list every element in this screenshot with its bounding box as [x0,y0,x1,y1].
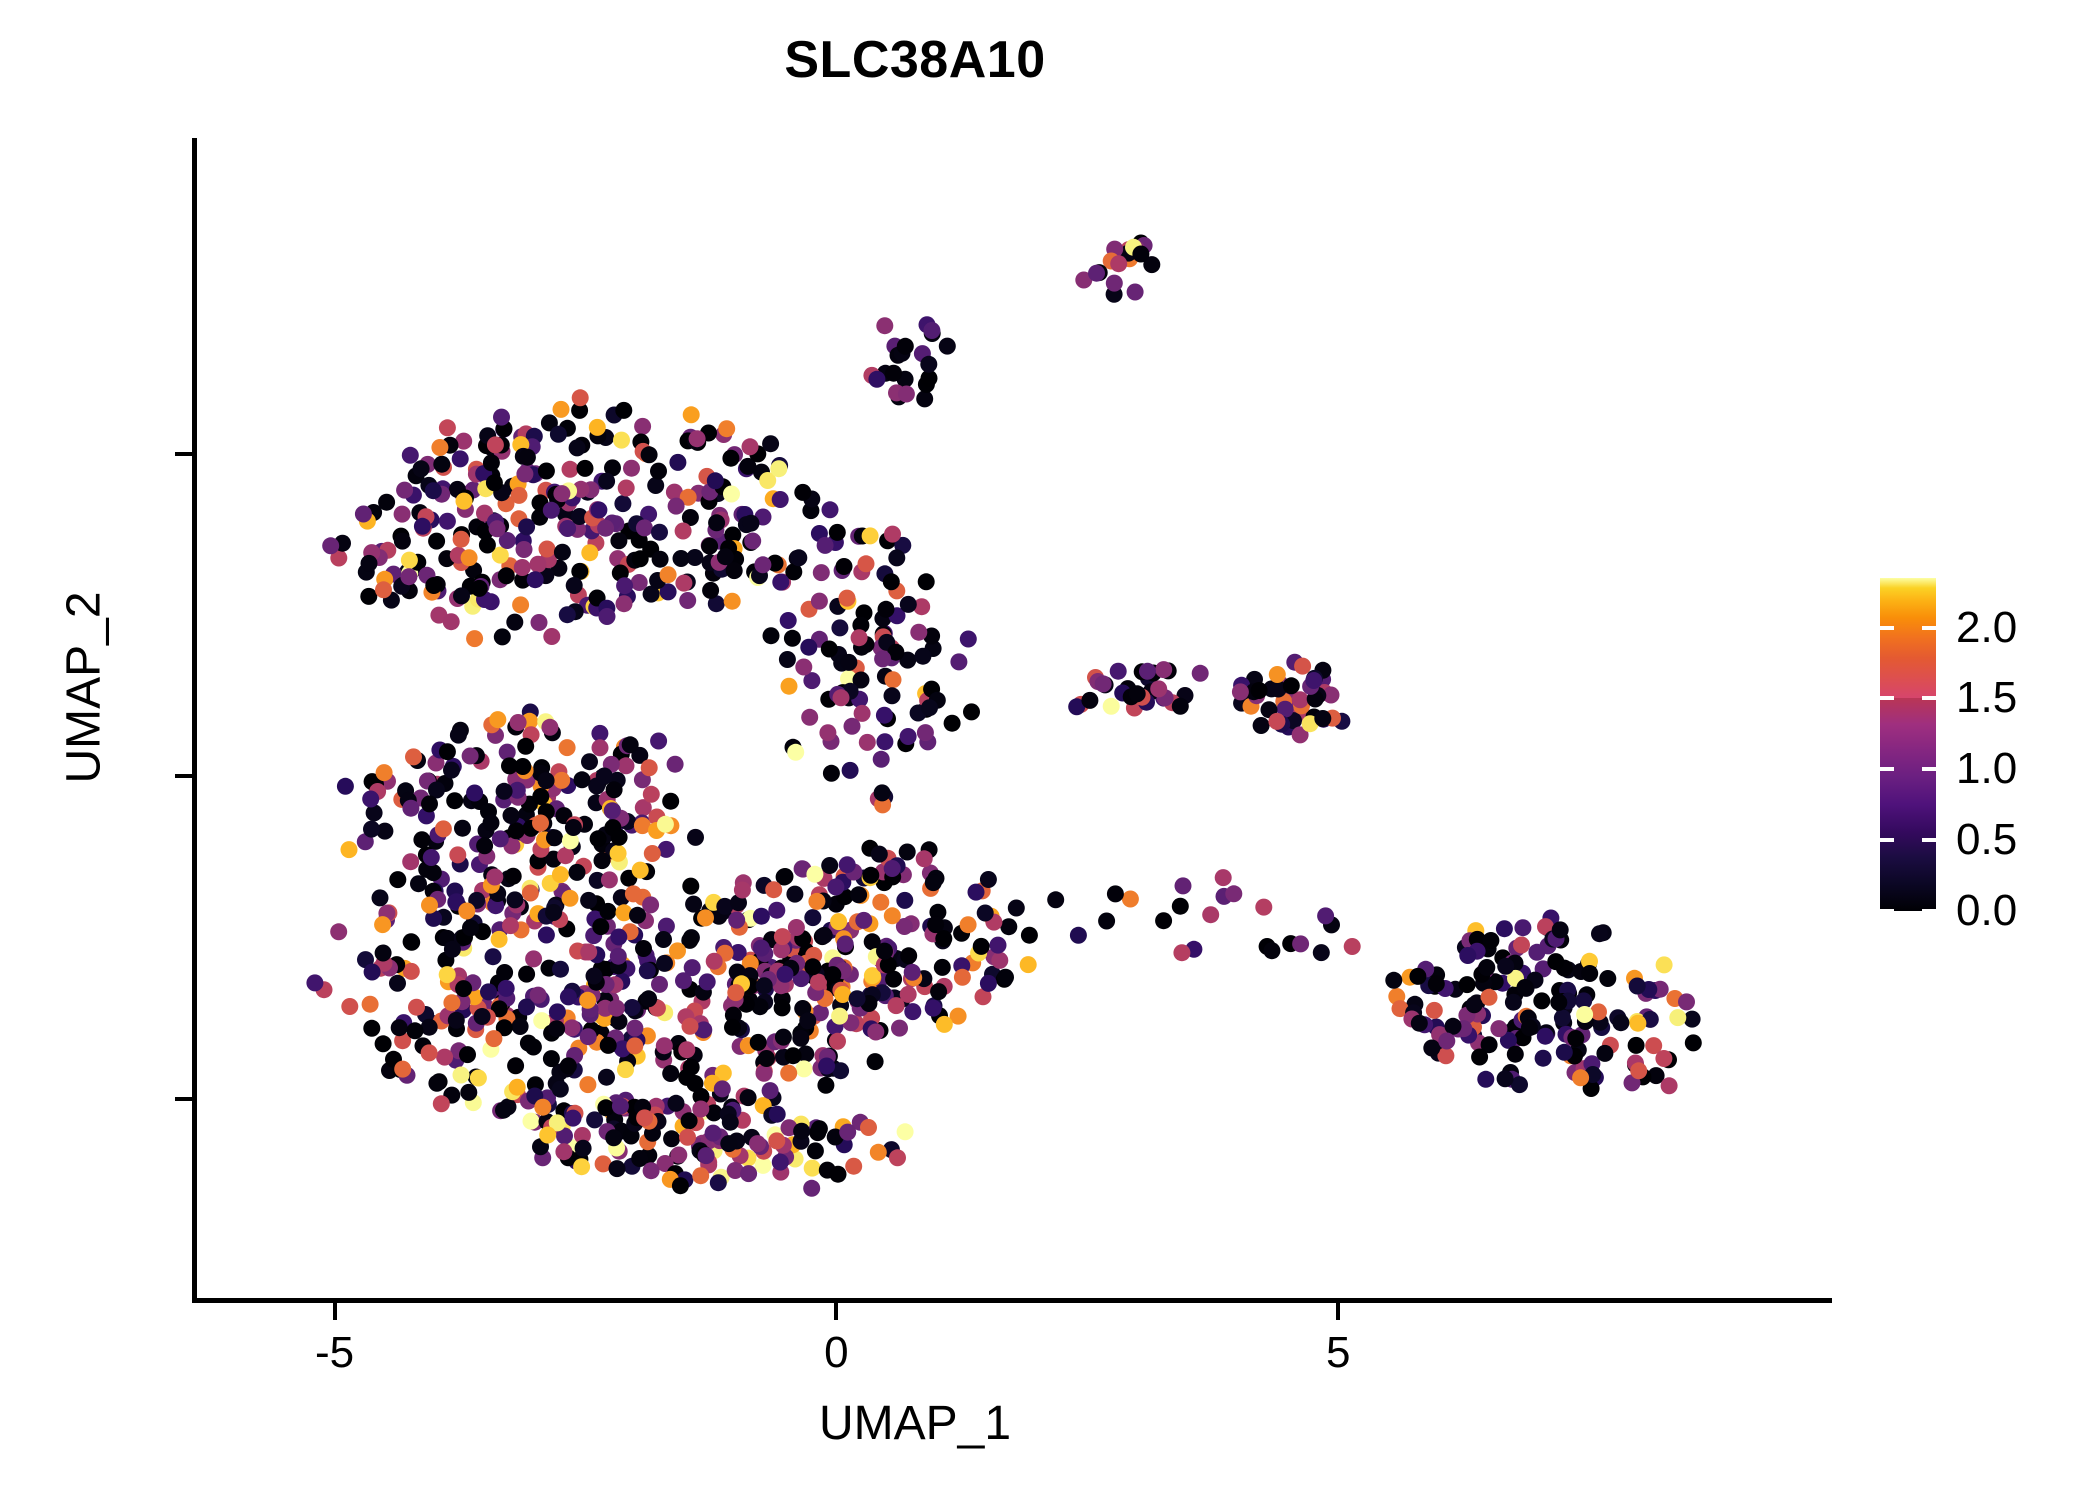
scatter-point [425,482,442,499]
scatter-point [476,591,493,608]
scatter-point [620,523,637,540]
scatter-point [535,815,552,832]
scatter-point [463,792,480,809]
scatter-point [695,1024,712,1041]
scatter-point [853,639,870,656]
scatter-point [337,778,354,795]
scatter-point [1638,1008,1655,1025]
scatter-point [491,931,508,948]
scatter-point [1518,1008,1535,1025]
scatter-point [897,338,914,355]
scatter-point [604,1104,621,1121]
scatter-point [496,783,513,800]
scatter-point [830,981,847,998]
scatter-point [660,566,677,583]
colorbar-tick-label: 1.5 [1956,673,2017,723]
scatter-point [532,1138,549,1155]
scatter-point [626,1020,643,1037]
scatter-point [642,962,659,979]
scatter-point [1269,666,1286,683]
scatter-point [736,506,753,523]
scatter-point [402,853,419,870]
scatter-point [724,593,741,610]
scatter-point [1263,680,1280,697]
scatter-point [829,957,846,974]
scatter-point [1294,658,1311,675]
scatter-point [367,776,384,793]
scatter-point [1292,706,1309,723]
scatter-point [694,1103,711,1120]
scatter-point [712,1128,729,1145]
scatter-point [836,1136,853,1153]
scatter-point [1438,1033,1455,1050]
scatter-point [433,1095,450,1112]
scatter-point [793,970,810,987]
scatter-point [453,531,470,548]
scatter-point [1021,927,1038,944]
scatter-point [743,515,760,532]
scatter-point [715,939,732,956]
scatter-point [724,1141,741,1158]
scatter-point [862,867,879,884]
scatter-point [483,716,500,733]
scatter-point [462,748,479,765]
scatter-point [723,1099,740,1116]
scatter-point [811,593,828,610]
scatter-point [563,1139,580,1156]
scatter-point [753,940,770,957]
scatter-point [774,574,791,591]
scatter-point [1465,1019,1482,1036]
scatter-point [548,1020,565,1037]
scatter-point [597,826,614,843]
scatter-point [760,971,777,988]
scatter-point [492,571,509,588]
scatter-point [572,481,589,498]
scatter-point [1416,1016,1433,1033]
scatter-point [805,967,822,984]
scatter-point [448,1020,465,1037]
scatter-point [393,578,410,595]
scatter-point [570,989,587,1006]
scatter-point [597,961,614,978]
scatter-point [717,548,734,565]
scatter-point [492,1102,509,1119]
scatter-point [1145,665,1162,682]
scatter-point [867,1024,884,1041]
scatter-point [1132,246,1149,263]
scatter-point [1270,681,1287,698]
scatter-point [1513,937,1530,954]
scatter-point [1595,924,1612,941]
scatter-point [1293,697,1310,714]
scatter-point [525,950,542,967]
scatter-point [811,631,828,648]
scatter-point [376,764,393,781]
scatter-point [1426,978,1443,995]
scatter-point [736,1088,753,1105]
scatter-point [551,911,568,928]
scatter-point [613,889,630,906]
scatter-point [372,960,389,977]
scatter-point [403,934,420,951]
scatter-point [489,885,506,902]
scatter-point [498,567,515,584]
scatter-point [622,923,639,940]
scatter-point [495,421,512,438]
scatter-point [762,967,779,984]
scatter-point [1572,1069,1589,1086]
scatter-point [827,1032,844,1049]
scatter-point [679,1129,696,1146]
scatter-point [803,491,820,508]
scatter-point [523,881,540,898]
scatter-point [669,454,686,471]
scatter-point [1477,962,1494,979]
scatter-point [330,550,347,567]
scatter-point [450,547,467,564]
scatter-point [676,1171,693,1188]
scatter-point [888,582,905,599]
scatter-point [490,974,507,991]
y-axis-line [192,138,197,1302]
scatter-point [704,1075,721,1092]
scatter-point [772,1154,789,1171]
scatter-point [428,1075,445,1092]
scatter-point [753,908,770,925]
scatter-point [1103,698,1120,715]
scatter-point [771,457,788,474]
scatter-point [485,948,502,965]
scatter-point [553,772,570,789]
scatter-point [899,652,916,669]
scatter-point [618,480,635,497]
scatter-point [1323,687,1340,704]
scatter-point [626,1037,643,1054]
scatter-point [551,1064,568,1081]
scatter-point [1590,1003,1607,1020]
scatter-point [765,1089,782,1106]
scatter-point [520,1035,537,1052]
scatter-point [577,944,594,961]
scatter-point [659,1098,676,1115]
scatter-point [775,1029,792,1046]
scatter-point [579,597,596,614]
colorbar-tick-mark [1880,626,1894,630]
scatter-point [742,978,759,995]
scatter-point [577,460,594,477]
scatter-point [590,502,607,519]
scatter-point [705,1125,722,1142]
scatter-point [742,952,759,969]
scatter-point [538,908,555,925]
scatter-point [793,943,810,960]
scatter-point [827,1129,844,1146]
scatter-point [1392,1000,1409,1017]
scatter-point [740,1037,757,1054]
scatter-point [569,439,586,456]
scatter-point [923,681,940,698]
scatter-point [985,914,1002,931]
scatter-point [793,1123,810,1140]
scatter-point [1068,698,1085,715]
scatter-point [467,1021,484,1038]
scatter-point [552,1081,569,1098]
scatter-point [705,565,722,582]
scatter-point [1114,685,1131,702]
scatter-point [919,692,936,709]
scatter-point [413,831,430,848]
scatter-point [408,467,425,484]
scatter-point [814,928,831,945]
scatter-point [897,1123,914,1140]
scatter-point [872,1022,889,1039]
scatter-point [468,461,485,478]
scatter-point [401,565,418,582]
scatter-point [752,998,769,1015]
scatter-point [1481,989,1498,1006]
scatter-point [780,612,797,629]
scatter-point [755,1097,772,1114]
scatter-point [629,907,646,924]
scatter-point [919,316,936,333]
scatter-point [484,895,501,912]
scatter-point [797,1003,814,1020]
scatter-point [1645,1037,1662,1054]
scatter-point [564,838,581,855]
scatter-point [1275,693,1292,710]
scatter-point [835,930,852,947]
scatter-point [1160,662,1177,679]
scatter-point [1315,711,1332,728]
scatter-point [854,705,871,722]
scatter-point [522,880,539,897]
scatter-point [524,438,541,455]
scatter-point [1155,912,1172,929]
scatter-point [876,565,893,582]
scatter-point [757,981,774,998]
scatter-point [755,509,772,526]
scatter-point [762,1082,779,1099]
scatter-point [363,821,380,838]
scatter-point [375,1035,392,1052]
scatter-point [836,868,853,885]
scatter-point [1255,899,1272,916]
scatter-point [468,1069,485,1086]
scatter-point [498,1007,515,1024]
scatter-point [376,955,393,972]
scatter-point [1460,1027,1477,1044]
scatter-point [777,976,794,993]
scatter-point [565,1110,582,1127]
scatter-point [389,975,406,992]
scatter-point [936,1016,953,1033]
scatter-point [549,491,566,508]
scatter-point [929,692,946,709]
scatter-point [856,604,873,621]
scatter-point [684,959,701,976]
scatter-point [487,436,504,453]
scatter-point [604,802,621,819]
scatter-point [447,1052,464,1069]
scatter-point [552,866,569,883]
scatter-point [960,916,977,933]
scatter-point [381,960,398,977]
scatter-point [705,1104,722,1121]
scatter-point [1678,993,1695,1010]
scatter-point [614,956,631,973]
scatter-point [510,789,527,806]
scatter-point [635,799,652,816]
scatter-point [510,510,527,527]
scatter-point [521,796,538,813]
scatter-point [1515,1029,1532,1046]
scatter-point [1556,960,1573,977]
scatter-point [558,920,575,937]
scatter-point [713,512,730,529]
scatter-point [396,482,413,499]
scatter-point [548,800,565,817]
scatter-point [692,1167,709,1184]
scatter-point [376,571,393,588]
scatter-point [1544,931,1561,948]
scatter-point [910,705,927,722]
scatter-point [429,891,446,908]
scatter-point [539,1089,556,1106]
scatter-point [655,1044,672,1061]
scatter-point [590,830,607,847]
scatter-point [555,885,572,902]
scatter-point [700,1156,717,1173]
scatter-point [1556,999,1573,1016]
scatter-point [903,915,920,932]
scatter-point [619,588,636,605]
scatter-point [722,1114,739,1131]
scatter-point [418,846,435,863]
scatter-point [436,1049,453,1066]
scatter-point [453,587,470,604]
scatter-point [584,987,601,1004]
scatter-point [499,532,516,549]
scatter-point [694,993,711,1010]
scatter-point [1215,869,1232,886]
scatter-point [651,524,668,541]
scatter-point [670,1035,687,1052]
scatter-point [873,639,890,656]
scatter-point [454,929,471,946]
scatter-point [678,1041,695,1058]
scatter-point [393,528,410,545]
scatter-point [608,1000,625,1017]
scatter-point [888,549,905,566]
scatter-point [519,463,536,480]
scatter-point [802,502,819,519]
scatter-point [532,815,549,832]
scatter-point [369,783,386,800]
scatter-point [419,567,436,584]
scatter-point [1552,921,1569,938]
scatter-point [858,636,875,653]
scatter-point [589,590,606,607]
scatter-point [1540,937,1557,954]
scatter-point [682,429,699,446]
scatter-point [1471,1049,1488,1066]
scatter-point [1612,1014,1629,1031]
scatter-point [1283,677,1300,694]
scatter-point [781,1119,798,1136]
scatter-point [1640,981,1657,998]
scatter-point [922,918,939,935]
scatter-point [1574,1026,1591,1043]
scatter-point [1202,906,1219,923]
scatter-point [1120,245,1137,262]
scatter-point [402,447,419,464]
scatter-point [823,733,840,750]
scatter-point [330,923,347,940]
scatter-point [974,882,991,899]
scatter-point [1547,953,1564,970]
scatter-point [562,890,579,907]
scatter-point [839,1124,856,1141]
scatter-point [613,1123,630,1140]
scatter-point [672,1177,689,1194]
scatter-point [598,976,615,993]
scatter-point [546,908,563,925]
scatter-point [1121,250,1138,267]
scatter-point [842,762,859,779]
scatter-point [518,999,535,1016]
scatter-point [877,365,894,382]
scatter-point [749,1135,766,1152]
scatter-point [756,994,773,1011]
scatter-point [1091,264,1108,281]
scatter-point [380,904,397,921]
scatter-point [542,875,559,892]
scatter-point [525,988,542,1005]
scatter-point [785,739,802,756]
scatter-point [606,958,623,975]
scatter-point [595,1096,612,1113]
scatter-point [1107,885,1124,902]
scatter-point [395,1014,412,1031]
scatter-point [741,991,758,1008]
scatter-point [539,789,556,806]
scatter-points-layer [0,0,2100,1500]
scatter-point [1417,961,1434,978]
scatter-point [768,902,785,919]
scatter-point [586,598,603,615]
scatter-point [443,762,460,779]
scatter-point [618,757,635,774]
scatter-point [593,473,610,490]
scatter-point [839,590,856,607]
scatter-point [520,1093,537,1110]
scatter-point [1587,1069,1604,1086]
scatter-point [876,707,893,724]
scatter-point [444,941,461,958]
scatter-point [756,877,773,894]
scatter-point [885,365,902,382]
scatter-point [755,1143,772,1160]
scatter-point [514,572,531,589]
scatter-point [439,930,456,947]
scatter-point [863,973,880,990]
scatter-point [583,522,600,539]
scatter-point [475,465,492,482]
scatter-point [1277,701,1294,718]
scatter-point [1496,920,1513,937]
scatter-point [647,999,664,1016]
